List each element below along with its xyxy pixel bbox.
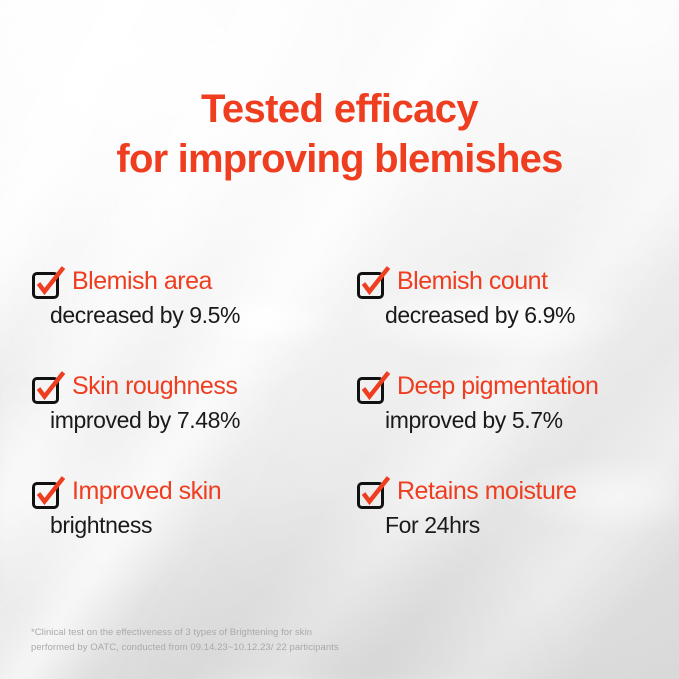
check-mark-icon [33, 265, 67, 299]
list-item-title: Skin roughness [72, 371, 240, 401]
checkbox-checked-icon [357, 482, 384, 509]
list-item-title: Blemish area [72, 266, 240, 296]
list-item-labels: Blemish area decreased by 9.5% [72, 266, 240, 330]
checkbox-checked-icon [357, 272, 384, 299]
check-mark-icon [358, 265, 392, 299]
footnote-line-2: performed by OATC, conducted from 09.14.… [31, 640, 339, 655]
list-item-subtitle: brightness [50, 510, 221, 540]
checkbox-checked-icon [32, 377, 59, 404]
list-item-title: Retains moisture [397, 476, 577, 506]
footnote-line-1: *Clinical test on the effectiveness of 3… [31, 625, 339, 640]
page-title-line-1: Tested efficacy [0, 84, 679, 134]
list-item-title: Improved skin [72, 476, 221, 506]
check-mark-icon [358, 475, 392, 509]
checkbox-checked-icon [32, 272, 59, 299]
check-mark-icon [33, 475, 67, 509]
efficacy-checklist: Blemish area decreased by 9.5% Blemish c… [32, 266, 647, 540]
list-item-labels: Skin roughness improved by 7.48% [72, 371, 240, 435]
list-item-deep-pigmentation: Deep pigmentation improved by 5.7% [357, 371, 647, 476]
poster-content: Tested efficacy for improving blemishes … [0, 0, 679, 679]
list-item-title: Deep pigmentation [397, 371, 598, 401]
list-item-blemish-count: Blemish count decreased by 6.9% [357, 266, 647, 371]
list-item-title: Blemish count [397, 266, 575, 296]
list-item-subtitle: decreased by 6.9% [385, 300, 575, 330]
list-item-subtitle: improved by 5.7% [385, 405, 598, 435]
page-title-line-2: for improving blemishes [0, 134, 679, 184]
list-item-labels: Blemish count decreased by 6.9% [397, 266, 575, 330]
list-item-labels: Deep pigmentation improved by 5.7% [397, 371, 598, 435]
check-mark-icon [33, 370, 67, 404]
list-item-labels: Improved skin brightness [72, 476, 221, 540]
product-efficacy-poster: Tested efficacy for improving blemishes … [0, 0, 679, 679]
clinical-test-footnote: *Clinical test on the effectiveness of 3… [31, 625, 339, 655]
list-item-subtitle: improved by 7.48% [50, 405, 240, 435]
check-mark-icon [358, 370, 392, 404]
page-title: Tested efficacy for improving blemishes [0, 84, 679, 184]
list-item-subtitle: decreased by 9.5% [50, 300, 240, 330]
list-item-retains-moisture: Retains moisture For 24hrs [357, 476, 647, 540]
checkbox-checked-icon [357, 377, 384, 404]
list-item-improved-skin-brightness: Improved skin brightness [32, 476, 357, 540]
list-item-blemish-area: Blemish area decreased by 9.5% [32, 266, 357, 371]
list-item-skin-roughness: Skin roughness improved by 7.48% [32, 371, 357, 476]
list-item-subtitle: For 24hrs [385, 510, 577, 540]
checkbox-checked-icon [32, 482, 59, 509]
list-item-labels: Retains moisture For 24hrs [397, 476, 577, 540]
